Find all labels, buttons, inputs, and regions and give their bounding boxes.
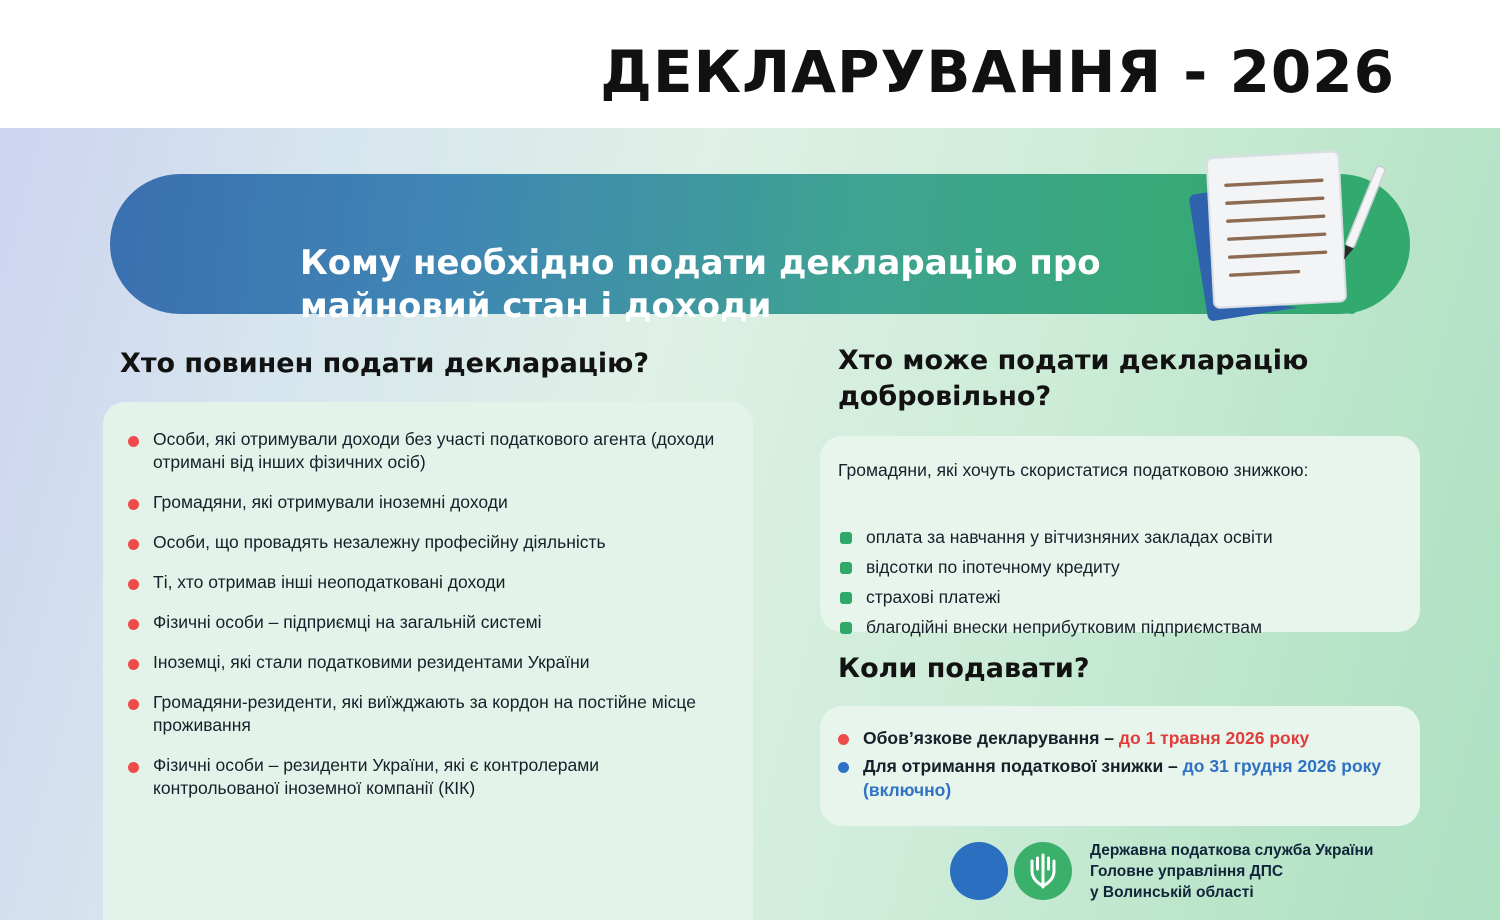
bullet-dot-icon <box>128 539 139 550</box>
list-item-label: відсотки по іпотечному кредиту <box>866 556 1120 578</box>
list-item: Особи, що провадять незалежну професійну… <box>128 531 728 554</box>
list-item-label: Особи, що провадять незалежну професійну… <box>153 531 606 554</box>
list-who-must: Особи, які отримували доходи без участі … <box>128 428 728 817</box>
banner-title: Кому необхідно подати декларацію про май… <box>300 242 1260 328</box>
list-when: Обов’язкове декларування – до 1 травня 2… <box>838 726 1408 806</box>
list-item: оплата за навчання у вітчизняних заклада… <box>840 526 1410 548</box>
blue-circle-logo <box>950 842 1008 900</box>
page-title: ДЕКЛАРУВАННЯ - 2026 <box>600 38 1395 106</box>
bullet-dot-icon <box>128 699 139 710</box>
footer-logo-block: Державна податкова служба України Головн… <box>950 834 1420 914</box>
bullet-dot-icon <box>840 622 852 634</box>
bullet-dot-icon <box>840 532 852 544</box>
bullet-dot-icon <box>128 436 139 447</box>
list-item-label: Фізичні особи – підприємці на загальній … <box>153 611 542 634</box>
when-label-1: Для отримання податкової знижки – <box>863 756 1183 776</box>
list-item-label: Громадяни-резиденти, які виїжджають за к… <box>153 691 728 737</box>
when-label-0: Обов’язкове декларування – <box>863 728 1119 748</box>
bullet-dot-icon <box>840 592 852 604</box>
list-item-label: благодійні внески неприбутковим підприєм… <box>866 616 1262 638</box>
list-item: Громадяни-резиденти, які виїжджають за к… <box>128 691 728 737</box>
list-item-label: Громадяни, які отримували іноземні доход… <box>153 491 508 514</box>
bullet-dot-icon <box>128 762 139 773</box>
list-item: Ті, хто отримав інші неоподатковані дохо… <box>128 571 728 594</box>
list-item-label: оплата за навчання у вітчизняних заклада… <box>866 526 1273 548</box>
bullet-dot-icon <box>128 659 139 670</box>
trident-emblem-icon <box>1014 842 1072 900</box>
bullet-dot-icon <box>840 562 852 574</box>
footer-line-3: у Волинській області <box>1090 882 1420 903</box>
footer-line-2: Головне управління ДПС <box>1090 861 1420 882</box>
list-item: Особи, які отримували доходи без участі … <box>128 428 728 474</box>
list-item-label: Ті, хто отримав інші неоподатковані дохо… <box>153 571 505 594</box>
list-item: страхові платежі <box>840 586 1410 608</box>
list-item-label: Іноземці, які стали податковими резидент… <box>153 651 590 674</box>
list-item: Громадяни, які отримували іноземні доход… <box>128 491 728 514</box>
list-item-label: Обов’язкове декларування – до 1 травня 2… <box>863 726 1309 750</box>
footer-text: Державна податкова служба України Головн… <box>1090 840 1420 903</box>
when-deadline-0: до 1 травня 2026 року <box>1119 728 1309 748</box>
list-item: відсотки по іпотечному кредиту <box>840 556 1410 578</box>
documents-pen-icon <box>1175 142 1405 342</box>
bullet-dot-icon <box>838 734 849 745</box>
bullet-dot-icon <box>128 619 139 630</box>
heading-voluntary: Хто може подати декларацію добровільно? <box>838 343 1418 415</box>
list-item: Для отримання податкової знижки – до 31 … <box>838 754 1408 802</box>
list-item: Фізичні особи – резиденти України, які є… <box>128 754 728 800</box>
voluntary-intro-text: Громадяни, які хочуть скористатися подат… <box>838 458 1403 482</box>
bullet-dot-icon <box>128 499 139 510</box>
list-item-label: Фізичні особи – резиденти України, які є… <box>153 754 728 800</box>
list-item-label: Особи, які отримували доходи без участі … <box>153 428 728 474</box>
list-item: Іноземці, які стали податковими резидент… <box>128 651 728 674</box>
footer-line-1: Державна податкова служба України <box>1090 840 1420 861</box>
list-item: благодійні внески неприбутковим підприєм… <box>840 616 1410 638</box>
bullet-dot-icon <box>838 762 849 773</box>
list-item: Обов’язкове декларування – до 1 травня 2… <box>838 726 1408 750</box>
bullet-dot-icon <box>128 579 139 590</box>
body-background: Кому необхідно подати декларацію про май… <box>0 128 1500 920</box>
infographic-page: ДЕКЛАРУВАННЯ - 2026 Кому необхідно подат… <box>0 0 1500 920</box>
heading-who-must: Хто повинен подати декларацію? <box>120 348 649 379</box>
header-bar: ДЕКЛАРУВАННЯ - 2026 <box>0 0 1500 128</box>
list-item: Фізичні особи – підприємці на загальній … <box>128 611 728 634</box>
list-item-label: страхові платежі <box>866 586 1001 608</box>
heading-when: Коли подавати? <box>838 653 1089 684</box>
list-item-label: Для отримання податкової знижки – до 31 … <box>863 754 1408 802</box>
list-voluntary: оплата за навчання у вітчизняних заклада… <box>840 526 1410 646</box>
